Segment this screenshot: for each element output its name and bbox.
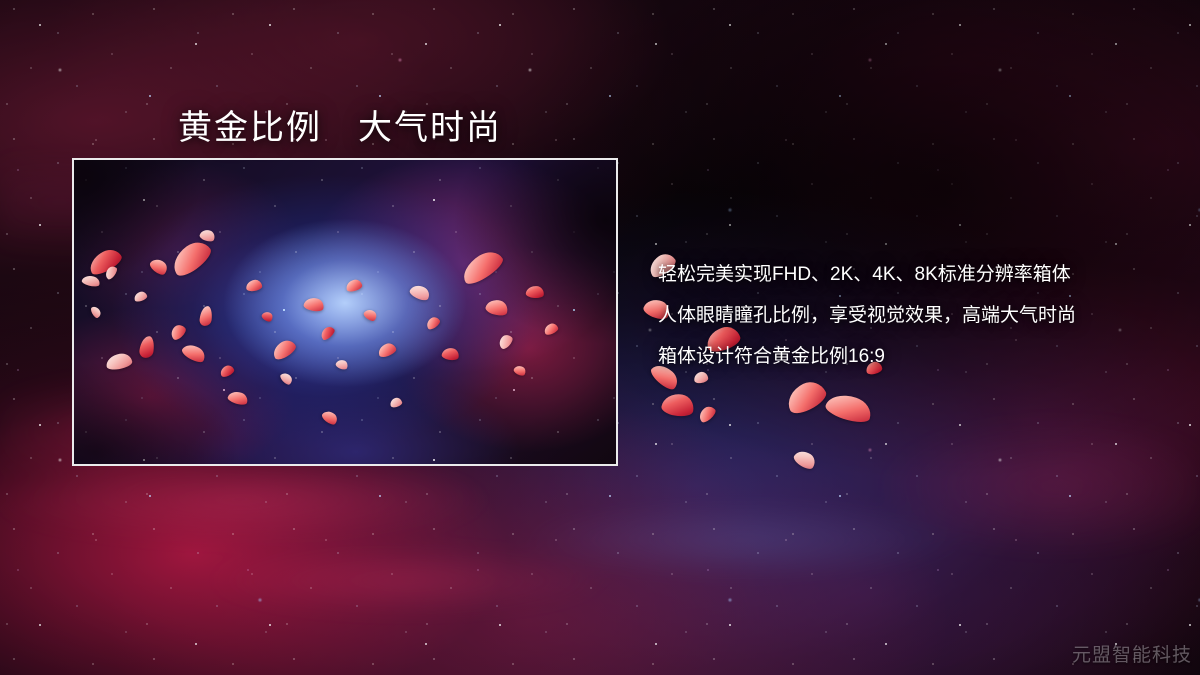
- frame-vignette: [74, 160, 616, 464]
- flower-petal: [696, 404, 718, 425]
- body-line: 箱体设计符合黄金比例16:9: [658, 336, 1178, 377]
- flower-petal: [782, 377, 829, 418]
- petal-blade: [782, 377, 829, 418]
- slide-canvas: 黄金比例 大气时尚 轻松完美实现FHD、2K、4K、8K标准分辨率箱体人体眼睛瞳…: [0, 0, 1200, 675]
- body-line: 轻松完美实现FHD、2K、4K、8K标准分辨率箱体: [658, 254, 1178, 295]
- flower-petal: [823, 389, 874, 426]
- petal-blade: [792, 447, 819, 472]
- petal-blade: [660, 391, 695, 418]
- frame-image-content: [74, 160, 616, 464]
- page-title: 黄金比例 大气时尚: [178, 100, 502, 149]
- flower-petal: [792, 447, 819, 472]
- framed-galaxy-image: [72, 158, 618, 466]
- flower-petal: [660, 391, 695, 418]
- petal-blade: [823, 389, 874, 426]
- watermark-text: 元盟智能科技: [1072, 640, 1192, 667]
- petal-blade: [696, 404, 718, 425]
- body-line: 人体眼睛瞳孔比例，享受视觉效果，高端大气时尚: [658, 295, 1178, 336]
- body-copy: 轻松完美实现FHD、2K、4K、8K标准分辨率箱体人体眼睛瞳孔比例，享受视觉效果…: [658, 254, 1178, 377]
